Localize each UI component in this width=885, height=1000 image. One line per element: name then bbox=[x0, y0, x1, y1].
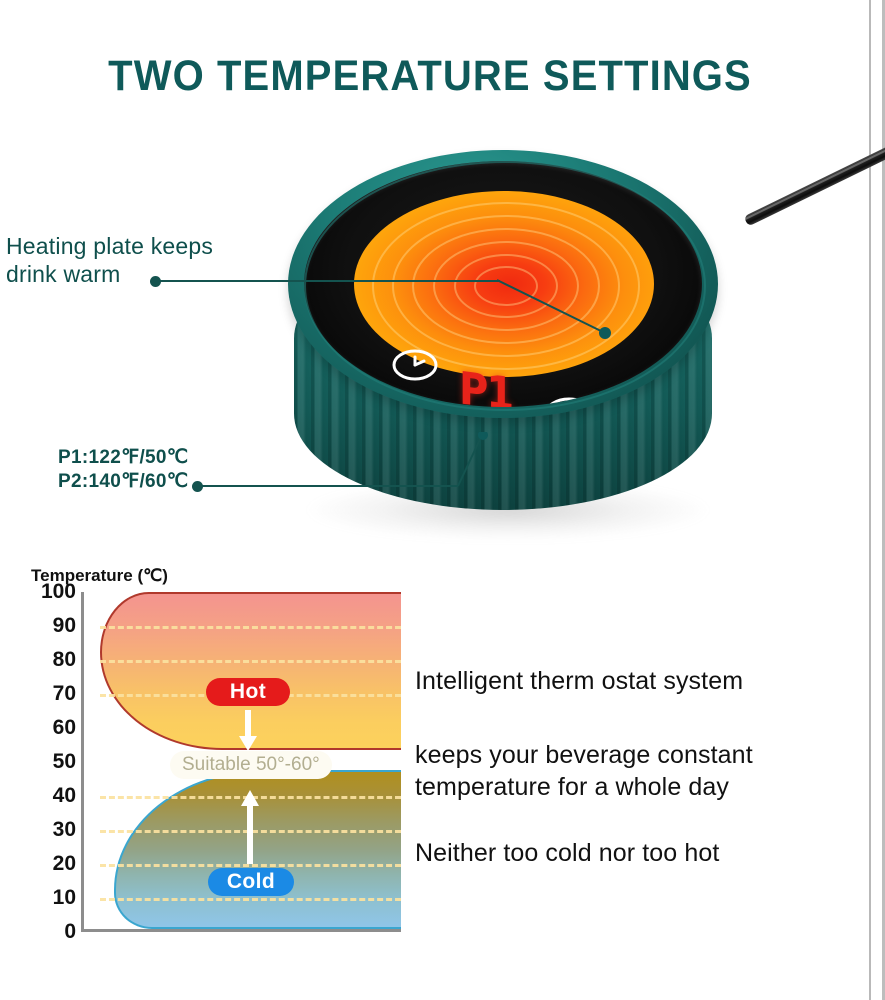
chart-annotation-suitable: Suitable 50°-60° bbox=[170, 751, 332, 779]
y-tick: 80 bbox=[26, 648, 76, 672]
callout-heating-line1: Heating plate keeps bbox=[6, 232, 213, 260]
y-tick: 70 bbox=[26, 682, 76, 706]
chart-y-tick-labels: 100 90 80 70 60 50 40 30 20 10 0 bbox=[26, 592, 76, 932]
feature-text-2: keeps your beverage constant temperature… bbox=[415, 740, 835, 803]
y-tick: 20 bbox=[26, 852, 76, 876]
power-cord-highlight bbox=[744, 135, 885, 220]
chart-badge-cold: Cold bbox=[208, 868, 294, 896]
preset-p2-label: P2:140℉/60℃ bbox=[58, 470, 188, 494]
chart-x-axis-line bbox=[81, 929, 401, 932]
clock-icon[interactable] bbox=[392, 349, 438, 381]
y-tick: 60 bbox=[26, 716, 76, 740]
temperature-chart: Temperature (℃) 100 90 80 70 60 50 40 30… bbox=[0, 560, 420, 960]
heating-plate-icon[interactable] bbox=[544, 397, 594, 407]
chart-plot-area: Hot Suitable 50°-60° Cold bbox=[84, 592, 401, 929]
y-tick: 30 bbox=[26, 818, 76, 842]
feature-text-3: Neither too cold nor too hot bbox=[415, 838, 719, 870]
feature-text-2-line1: keeps your beverage constant bbox=[415, 740, 835, 772]
led-preset-display: P1 bbox=[459, 363, 512, 407]
callout-presets: P1:122℉/50℃ P2:140℉/60℃ bbox=[58, 446, 188, 495]
callout-presets-leader-diagonal bbox=[452, 432, 492, 488]
arrow-up-icon bbox=[239, 788, 261, 864]
y-tick: 90 bbox=[26, 614, 76, 638]
y-tick: 0 bbox=[26, 920, 76, 944]
page-title: TWO TEMPERATURE SETTINGS bbox=[30, 52, 830, 101]
y-tick: 50 bbox=[26, 750, 76, 774]
feature-text-2-line2: temperature for a whole day bbox=[415, 772, 835, 804]
callout-heating-leader-diagonal bbox=[495, 275, 615, 340]
callout-heating-line2: drink warm bbox=[6, 260, 213, 288]
power-cord bbox=[744, 133, 885, 226]
feature-text-1: Intelligent therm ostat system bbox=[415, 666, 743, 698]
callout-heating-leader-h bbox=[159, 280, 500, 282]
callout-presets-leader-h bbox=[200, 485, 458, 487]
y-tick: 100 bbox=[26, 580, 76, 604]
y-tick: 10 bbox=[26, 886, 76, 910]
page-right-border bbox=[869, 0, 871, 1000]
preset-p1-label: P1:122℉/50℃ bbox=[58, 446, 188, 470]
chart-badge-hot: Hot bbox=[206, 678, 290, 706]
y-tick: 40 bbox=[26, 784, 76, 808]
mug-warmer-device: P1 bbox=[288, 150, 718, 550]
arrow-down-icon bbox=[237, 710, 259, 752]
